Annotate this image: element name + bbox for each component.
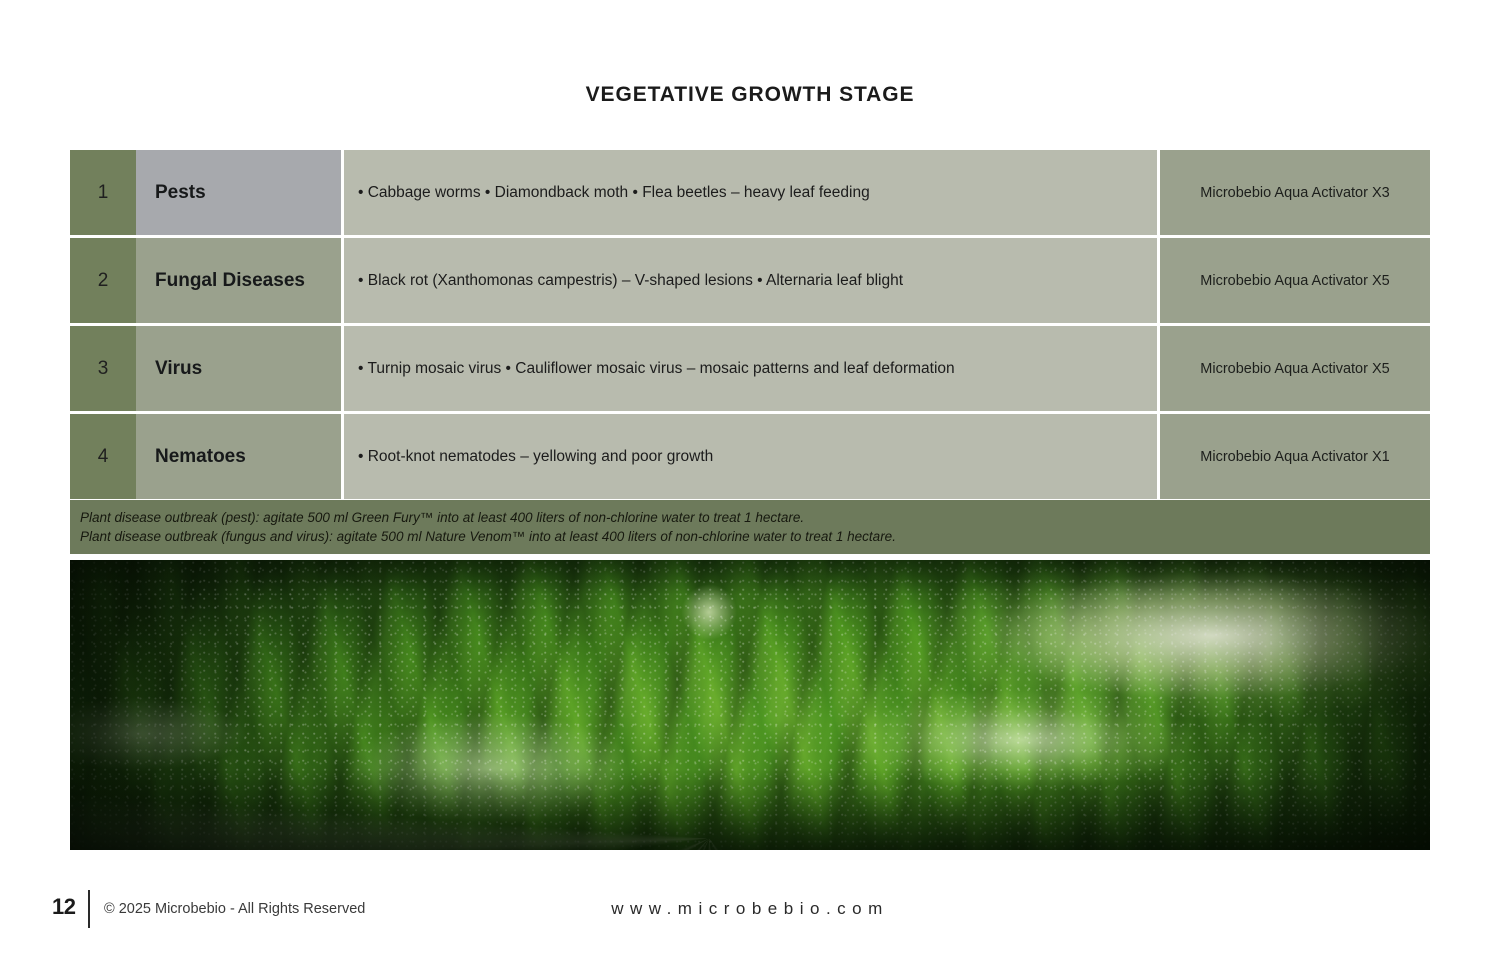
treatment-table: 1 Pests • Cabbage worms • Diamondback mo…: [70, 150, 1430, 502]
footnote-line-fungus-virus: Plant disease outbreak (fungus and virus…: [80, 527, 1430, 546]
row-number: 1: [70, 150, 136, 235]
row-category-label: Fungal Diseases: [136, 238, 341, 323]
footnote-band: Plant disease outbreak (pest): agitate 5…: [70, 500, 1430, 554]
row-category-label: Virus: [136, 326, 341, 411]
row-product: Microbebio Aqua Activator X5: [1157, 238, 1430, 323]
row-description: • Turnip mosaic virus • Cauliflower mosa…: [341, 326, 1157, 411]
row-description: • Cabbage worms • Diamondback moth • Fle…: [341, 150, 1157, 235]
row-number: 2: [70, 238, 136, 323]
cabbage-leaves-photo: [70, 560, 1430, 850]
website-url: www.microbebio.com: [0, 899, 1500, 919]
table-row: 3 Virus • Turnip mosaic virus • Cauliflo…: [70, 326, 1430, 411]
row-description: • Root-knot nematodes – yellowing and po…: [341, 414, 1157, 499]
footnote-line-pest: Plant disease outbreak (pest): agitate 5…: [80, 508, 1430, 527]
row-number: 3: [70, 326, 136, 411]
table-row: 1 Pests • Cabbage worms • Diamondback mo…: [70, 150, 1430, 235]
row-product: Microbebio Aqua Activator X5: [1157, 326, 1430, 411]
row-category-label: Nematoes: [136, 414, 341, 499]
row-product: Microbebio Aqua Activator X3: [1157, 150, 1430, 235]
photo-vignette-layer: [70, 560, 1430, 850]
table-row: 4 Nematoes • Root-knot nematodes – yello…: [70, 414, 1430, 499]
row-product: Microbebio Aqua Activator X1: [1157, 414, 1430, 499]
page-title: VEGETATIVE GROWTH STAGE: [0, 83, 1500, 107]
row-category-label: Pests: [136, 150, 341, 235]
row-description: • Black rot (Xanthomonas campestris) – V…: [341, 238, 1157, 323]
table-row: 2 Fungal Diseases • Black rot (Xanthomon…: [70, 238, 1430, 323]
row-number: 4: [70, 414, 136, 499]
